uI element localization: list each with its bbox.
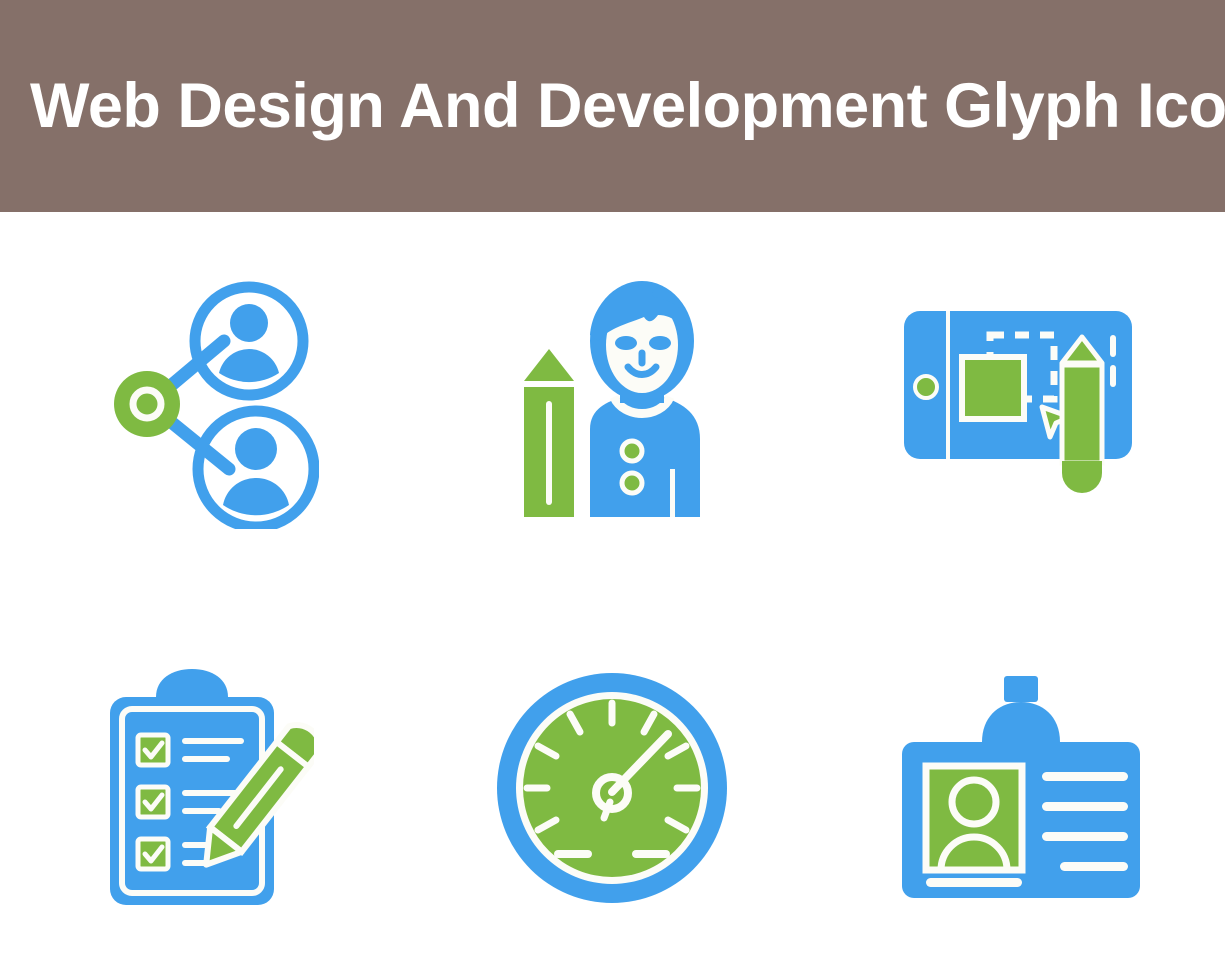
icon-cell-graphics-tablet[interactable] <box>817 212 1225 596</box>
eye-right <box>649 336 671 350</box>
badge-text-line-4 <box>1060 862 1128 871</box>
shirt-button-2 <box>622 473 642 493</box>
checklist-clipboard-icon[interactable] <box>94 663 314 913</box>
person-head <box>590 281 694 401</box>
icon-grid <box>0 212 1225 980</box>
badge-text-line-5 <box>926 878 1022 887</box>
icon-cell-share-users[interactable] <box>0 212 408 596</box>
person-body <box>590 397 700 517</box>
motion-mark-top <box>1110 335 1116 357</box>
user-avatar-top <box>195 287 303 395</box>
user-avatar-bottom <box>198 411 314 527</box>
share-users-icon[interactable] <box>89 279 319 529</box>
designer-person-icon[interactable] <box>502 279 722 529</box>
badge-text-line-3 <box>1042 832 1128 841</box>
page-title: Web Design And Development Glyph Icon <box>30 75 1225 138</box>
motion-mark-bottom <box>1110 365 1116 387</box>
green-pencil <box>524 349 574 517</box>
speedometer-icon[interactable] <box>492 668 732 908</box>
icon-cell-id-badge[interactable] <box>817 596 1225 980</box>
green-node <box>114 371 180 437</box>
text-line-2b <box>182 808 222 814</box>
text-line-2a <box>182 790 238 796</box>
green-artboard <box>962 357 1024 419</box>
badge-text-line-1 <box>1042 772 1128 781</box>
green-pencil <box>1062 337 1102 493</box>
eye-left <box>615 336 637 350</box>
id-badge-icon[interactable] <box>896 668 1146 908</box>
icon-cell-designer-person[interactable] <box>408 212 816 596</box>
icon-sheet-page: Web Design And Development Glyph Icon <box>0 0 1225 980</box>
icon-cell-checklist[interactable] <box>0 596 408 980</box>
badge-text-line-2 <box>1042 802 1128 811</box>
text-line-1a <box>182 738 244 744</box>
shirt-button-1 <box>622 441 642 461</box>
header-bar: Web Design And Development Glyph Icon <box>0 0 1225 212</box>
tablet-home-button[interactable] <box>915 376 937 398</box>
badge-clip-tab <box>1004 676 1038 702</box>
text-line-1b <box>182 756 230 762</box>
badge-clip-dome <box>982 702 1060 742</box>
graphics-tablet-icon[interactable] <box>896 299 1146 509</box>
icon-cell-speedometer[interactable] <box>408 596 816 980</box>
